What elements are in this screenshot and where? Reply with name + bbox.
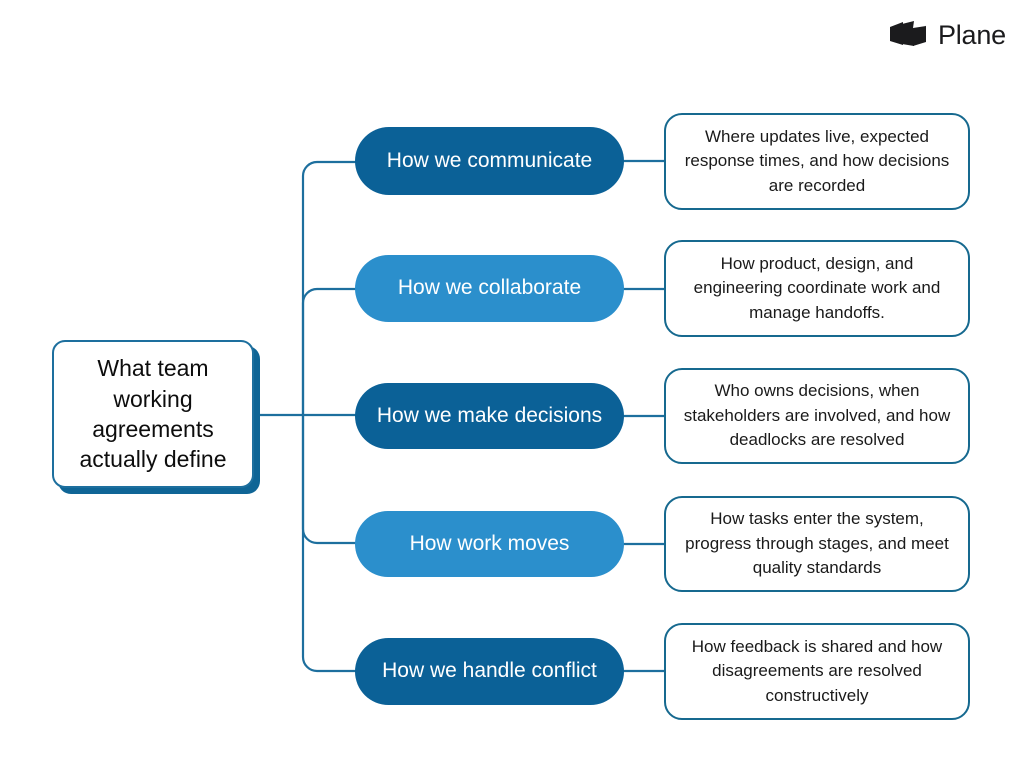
- branch-pill-label: How work moves: [410, 531, 570, 558]
- description-card-text: How feedback is shared and how disagreem…: [682, 635, 952, 709]
- root-node-label: What team working agreements actually de…: [62, 353, 244, 474]
- description-card-text: Where updates live, expected response ti…: [682, 125, 952, 199]
- connector-branch-3: [303, 415, 355, 543]
- description-card-communicate[interactable]: Where updates live, expected response ti…: [664, 113, 970, 210]
- description-card-text: Who owns decisions, when stakeholders ar…: [682, 379, 952, 453]
- root-node[interactable]: What team working agreements actually de…: [52, 340, 254, 488]
- branch-pill-decisions[interactable]: How we make decisions: [355, 383, 624, 449]
- description-card-work-moves[interactable]: How tasks enter the system, progress thr…: [664, 496, 970, 592]
- connector-branch-1: [303, 289, 355, 415]
- description-card-text: How product, design, and engineering coo…: [682, 252, 952, 326]
- description-card-decisions[interactable]: Who owns decisions, when stakeholders ar…: [664, 368, 970, 464]
- branch-pill-collaborate[interactable]: How we collaborate: [355, 255, 624, 322]
- branch-pill-conflict[interactable]: How we handle conflict: [355, 638, 624, 705]
- branch-pill-work-moves[interactable]: How work moves: [355, 511, 624, 577]
- branch-pill-label: How we make decisions: [377, 403, 602, 430]
- description-card-text: How tasks enter the system, progress thr…: [682, 507, 952, 581]
- description-card-collaborate[interactable]: How product, design, and engineering coo…: [664, 240, 970, 337]
- branch-pill-label: How we communicate: [387, 148, 592, 175]
- branch-pill-communicate[interactable]: How we communicate: [355, 127, 624, 195]
- branch-pill-label: How we handle conflict: [382, 658, 597, 685]
- description-card-conflict[interactable]: How feedback is shared and how disagreem…: [664, 623, 970, 720]
- branch-pill-label: How we collaborate: [398, 275, 581, 302]
